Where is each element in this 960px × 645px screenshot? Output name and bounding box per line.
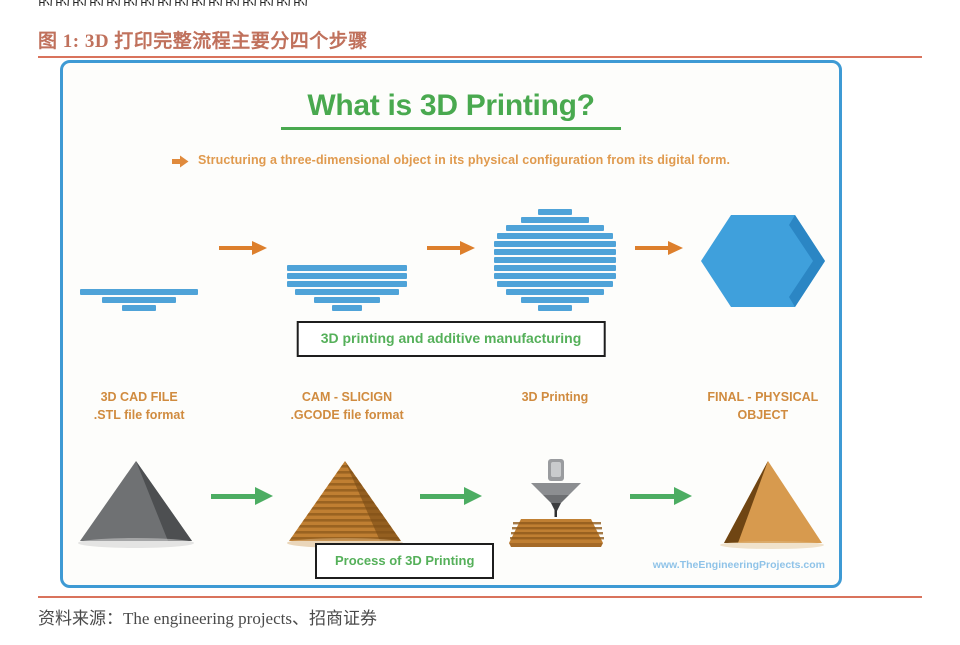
layer-stripe	[521, 297, 589, 303]
step-caption-print: 3D Printing	[522, 388, 589, 406]
sliced-pyramid	[281, 455, 411, 551]
stage-shape-cad	[63, 185, 215, 311]
arrow-cad-to-slice	[215, 185, 271, 311]
layer-stripe	[538, 305, 572, 311]
layer-stripe	[332, 305, 362, 311]
layer-stripe	[497, 281, 613, 287]
caption-gap-3	[631, 388, 687, 442]
final-pyramid	[700, 455, 830, 551]
arrow-slice-to-print	[423, 185, 479, 311]
stage-pyramid-cad	[63, 441, 211, 551]
layer-stripe	[506, 225, 604, 231]
layer-stripe	[122, 305, 156, 311]
right-arrow-icon	[219, 243, 267, 253]
diagram-subtitle-row: Structuring a three-dimensional object i…	[63, 153, 839, 167]
clipped-text-row: 的的的的的的的的的的的的的的的的	[38, 0, 458, 6]
layer-stripe	[494, 249, 616, 255]
layer-stripe	[494, 257, 616, 263]
printer-nozzle	[491, 455, 621, 551]
right-arrow-icon	[635, 243, 683, 253]
step-caption-slice: CAM - SLICIGN .GCODE file format	[290, 388, 403, 424]
step-caption-line: .GCODE file format	[290, 406, 403, 424]
right-arrow-icon	[420, 490, 482, 502]
caption-divider	[38, 56, 922, 58]
arrow-pyramid-1	[211, 441, 273, 551]
solid-hexagon-object	[697, 211, 829, 311]
step-caption-line: .STL file format	[94, 406, 185, 424]
layer-stripe	[287, 265, 407, 271]
layer-stripe	[497, 233, 613, 239]
layer-stripe	[102, 297, 176, 303]
caption-gap-2	[423, 388, 479, 442]
right-arrow-icon	[427, 243, 475, 253]
caption-cell-final: FINAL - PHYSICAL OBJECT	[687, 388, 839, 442]
layer-stripe	[494, 265, 616, 271]
step-caption-line: OBJECT	[707, 406, 818, 424]
layer-stack-start	[80, 289, 198, 311]
layer-buildup-row	[63, 185, 839, 311]
layer-stripe	[538, 209, 572, 215]
layer-stripe	[287, 273, 407, 279]
layer-stripe	[494, 241, 616, 247]
step-caption-cad: 3D CAD FILE .STL file format	[94, 388, 185, 424]
step-caption-line: 3D CAD FILE	[94, 388, 185, 406]
pyramid-process-row	[63, 441, 839, 551]
step-caption-line: CAM - SLICIGN	[290, 388, 403, 406]
diagram-title: What is 3D Printing?	[63, 89, 839, 123]
step-caption-line: FINAL - PHYSICAL	[707, 388, 818, 406]
caption-cell-slice: CAM - SLICIGN .GCODE file format	[271, 388, 423, 442]
arrow-pyramid-3	[630, 441, 692, 551]
stage-shape-final	[687, 185, 839, 311]
footer-divider	[38, 596, 922, 598]
source-note: 资料来源：The engineering projects、招商证券	[38, 604, 377, 629]
stage-shape-print	[479, 185, 631, 311]
stage-shape-slice	[271, 185, 423, 311]
diagram-subtitle: Structuring a three-dimensional object i…	[198, 153, 730, 167]
right-arrow-icon	[630, 490, 692, 502]
layer-stack-full	[494, 209, 616, 311]
gray-pyramid	[72, 455, 202, 551]
layer-stack-partial	[287, 265, 407, 311]
layer-stripe	[80, 289, 198, 295]
layer-stripe	[506, 289, 604, 295]
layer-stripe	[295, 289, 399, 295]
arrow-pyramid-2	[420, 441, 482, 551]
layer-stripe	[494, 273, 616, 279]
caption-gap-1	[215, 388, 271, 442]
label-box-1-text: 3D printing and additive manufacturing	[321, 330, 582, 346]
figure-caption: 图 1: 3D 打印完整流程主要分四个步骤	[38, 26, 368, 53]
diagram-title-underline	[281, 127, 621, 130]
label-box-additive-manufacturing: 3D printing and additive manufacturing	[297, 321, 606, 357]
caption-cell-print: 3D Printing	[479, 388, 631, 442]
label-box-process: Process of 3D Printing	[315, 543, 494, 579]
layer-stripe	[314, 297, 380, 303]
stage-pyramid-slice	[273, 441, 421, 551]
step-caption-line: 3D Printing	[522, 388, 589, 406]
figure-frame: What is 3D Printing? Structuring a three…	[60, 60, 842, 588]
step-caption-final: FINAL - PHYSICAL OBJECT	[707, 388, 818, 424]
right-arrow-icon	[172, 155, 189, 168]
step-captions-row: 3D CAD FILE .STL file format CAM - SLICI…	[63, 388, 839, 442]
stage-pyramid-final	[692, 441, 840, 551]
arrow-print-to-final	[631, 185, 687, 311]
caption-cell-cad: 3D CAD FILE .STL file format	[63, 388, 215, 442]
layer-stripe	[521, 217, 589, 223]
stage-pyramid-printing	[482, 441, 630, 551]
layer-stripe	[287, 281, 407, 287]
watermark: www.TheEngineeringProjects.com	[653, 559, 825, 571]
label-box-2-text: Process of 3D Printing	[335, 553, 474, 568]
right-arrow-icon	[211, 490, 273, 502]
